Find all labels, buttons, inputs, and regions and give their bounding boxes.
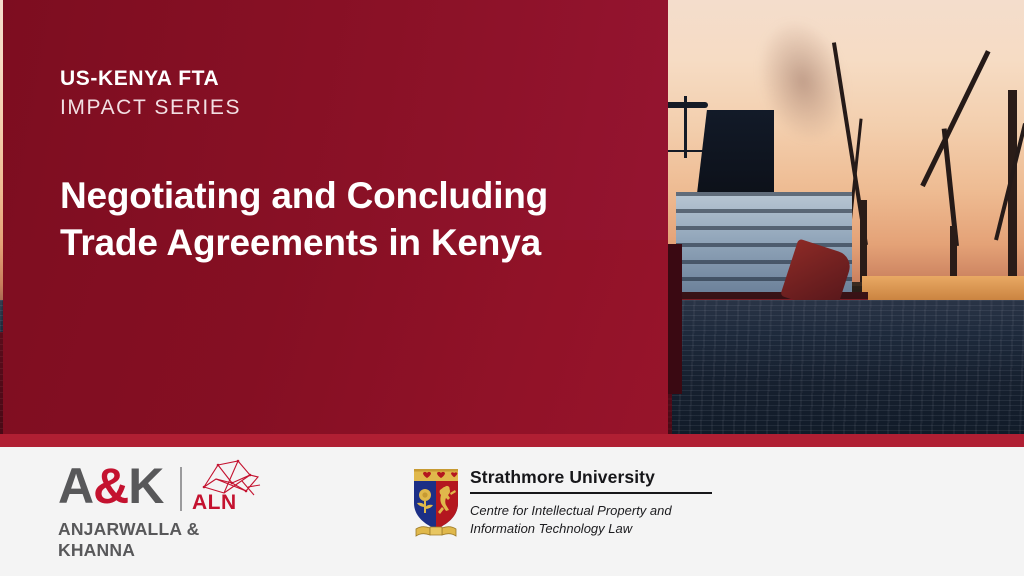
ak-ampersand: & bbox=[93, 458, 128, 514]
department-line2: Information Technology Law bbox=[470, 520, 790, 539]
department-line1: Centre for Intellectual Property and bbox=[470, 502, 790, 521]
ak-monogram: A&K bbox=[58, 461, 163, 511]
accent-divider-band bbox=[0, 434, 1024, 447]
ak-letter-k: K bbox=[128, 458, 163, 514]
ak-letter-a: A bbox=[58, 458, 93, 514]
gantry-crane-mid bbox=[900, 36, 996, 294]
ship-funnel bbox=[696, 110, 774, 202]
university-crest-icon bbox=[408, 463, 464, 541]
hero-banner: CHARLES ISLAND NASSAU bbox=[0, 0, 1024, 447]
ship-radar bbox=[664, 102, 708, 108]
university-department: Centre for Intellectual Property and Inf… bbox=[470, 502, 790, 540]
series-eyebrow-line2: IMPACT SERIES bbox=[60, 97, 241, 120]
gantry-crane-near bbox=[994, 70, 1024, 300]
university-text-block: Strathmore University Centre for Intelle… bbox=[470, 467, 790, 539]
page-title-line2: Trade Agreements in Kenya bbox=[60, 219, 620, 266]
page-title: Negotiating and Concluding Trade Agreeme… bbox=[60, 172, 620, 267]
university-underline bbox=[470, 492, 712, 494]
university-name: Strathmore University bbox=[470, 467, 790, 492]
anjarwalla-khanna-logo: A&K bbox=[58, 465, 268, 545]
firm-name: ANJARWALLA & KHANNA bbox=[58, 519, 268, 561]
series-eyebrow-line1: US-KENYA FTA bbox=[60, 68, 219, 91]
presentation-slide: CHARLES ISLAND NASSAU bbox=[0, 0, 1024, 576]
logo-divider-rule bbox=[180, 467, 182, 511]
logo-footer: A&K bbox=[0, 447, 1024, 576]
aln-label: ALN bbox=[192, 491, 237, 515]
page-title-line1: Negotiating and Concluding bbox=[60, 172, 620, 219]
